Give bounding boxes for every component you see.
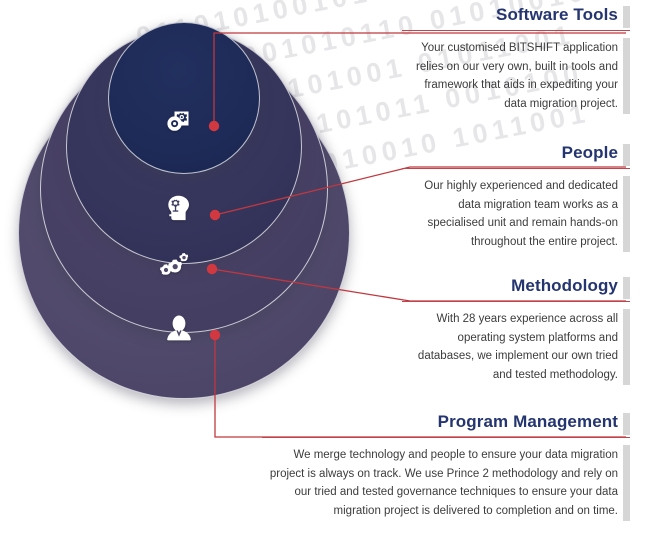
section-people: People Our highly experienced and dedica… bbox=[402, 142, 630, 251]
scroll-tick bbox=[623, 277, 630, 299]
scroll-tick bbox=[623, 445, 630, 521]
section-body: Your customised BITSHIFT application rel… bbox=[402, 39, 630, 113]
section-program-management: Program Management We merge technology a… bbox=[262, 411, 630, 520]
title-rule bbox=[402, 301, 630, 302]
section-body: With 28 years experience across all oper… bbox=[402, 310, 630, 384]
person-icon[interactable] bbox=[165, 314, 193, 344]
ring-software-tools[interactable] bbox=[108, 22, 260, 174]
nested-circles-graphic bbox=[18, 14, 358, 456]
section-body: We merge technology and people to ensure… bbox=[262, 446, 630, 520]
section-body: Our highly experienced and dedicated dat… bbox=[402, 177, 630, 251]
title-rule bbox=[402, 168, 630, 169]
section-methodology: Methodology With 28 years experience acr… bbox=[402, 275, 630, 384]
head-gear-icon[interactable] bbox=[163, 193, 193, 223]
scroll-tick bbox=[623, 176, 630, 252]
section-title: Program Management bbox=[262, 411, 630, 433]
title-rule bbox=[402, 30, 630, 31]
section-title: Methodology bbox=[402, 275, 630, 297]
scroll-tick bbox=[623, 413, 630, 435]
scroll-tick bbox=[623, 6, 630, 28]
tools-gear-icon[interactable] bbox=[163, 106, 193, 136]
title-rule bbox=[262, 437, 630, 438]
section-title: Software Tools bbox=[402, 4, 630, 26]
gears-icon[interactable] bbox=[160, 250, 196, 282]
section-software-tools: Software Tools Your customised BITSHIFT … bbox=[402, 4, 630, 113]
infographic-canvas: 0110101001010 0101011001 10101001010110 … bbox=[0, 0, 646, 534]
scroll-tick bbox=[623, 309, 630, 385]
section-title: People bbox=[402, 142, 630, 164]
scroll-tick bbox=[623, 38, 630, 114]
scroll-tick bbox=[623, 144, 630, 166]
